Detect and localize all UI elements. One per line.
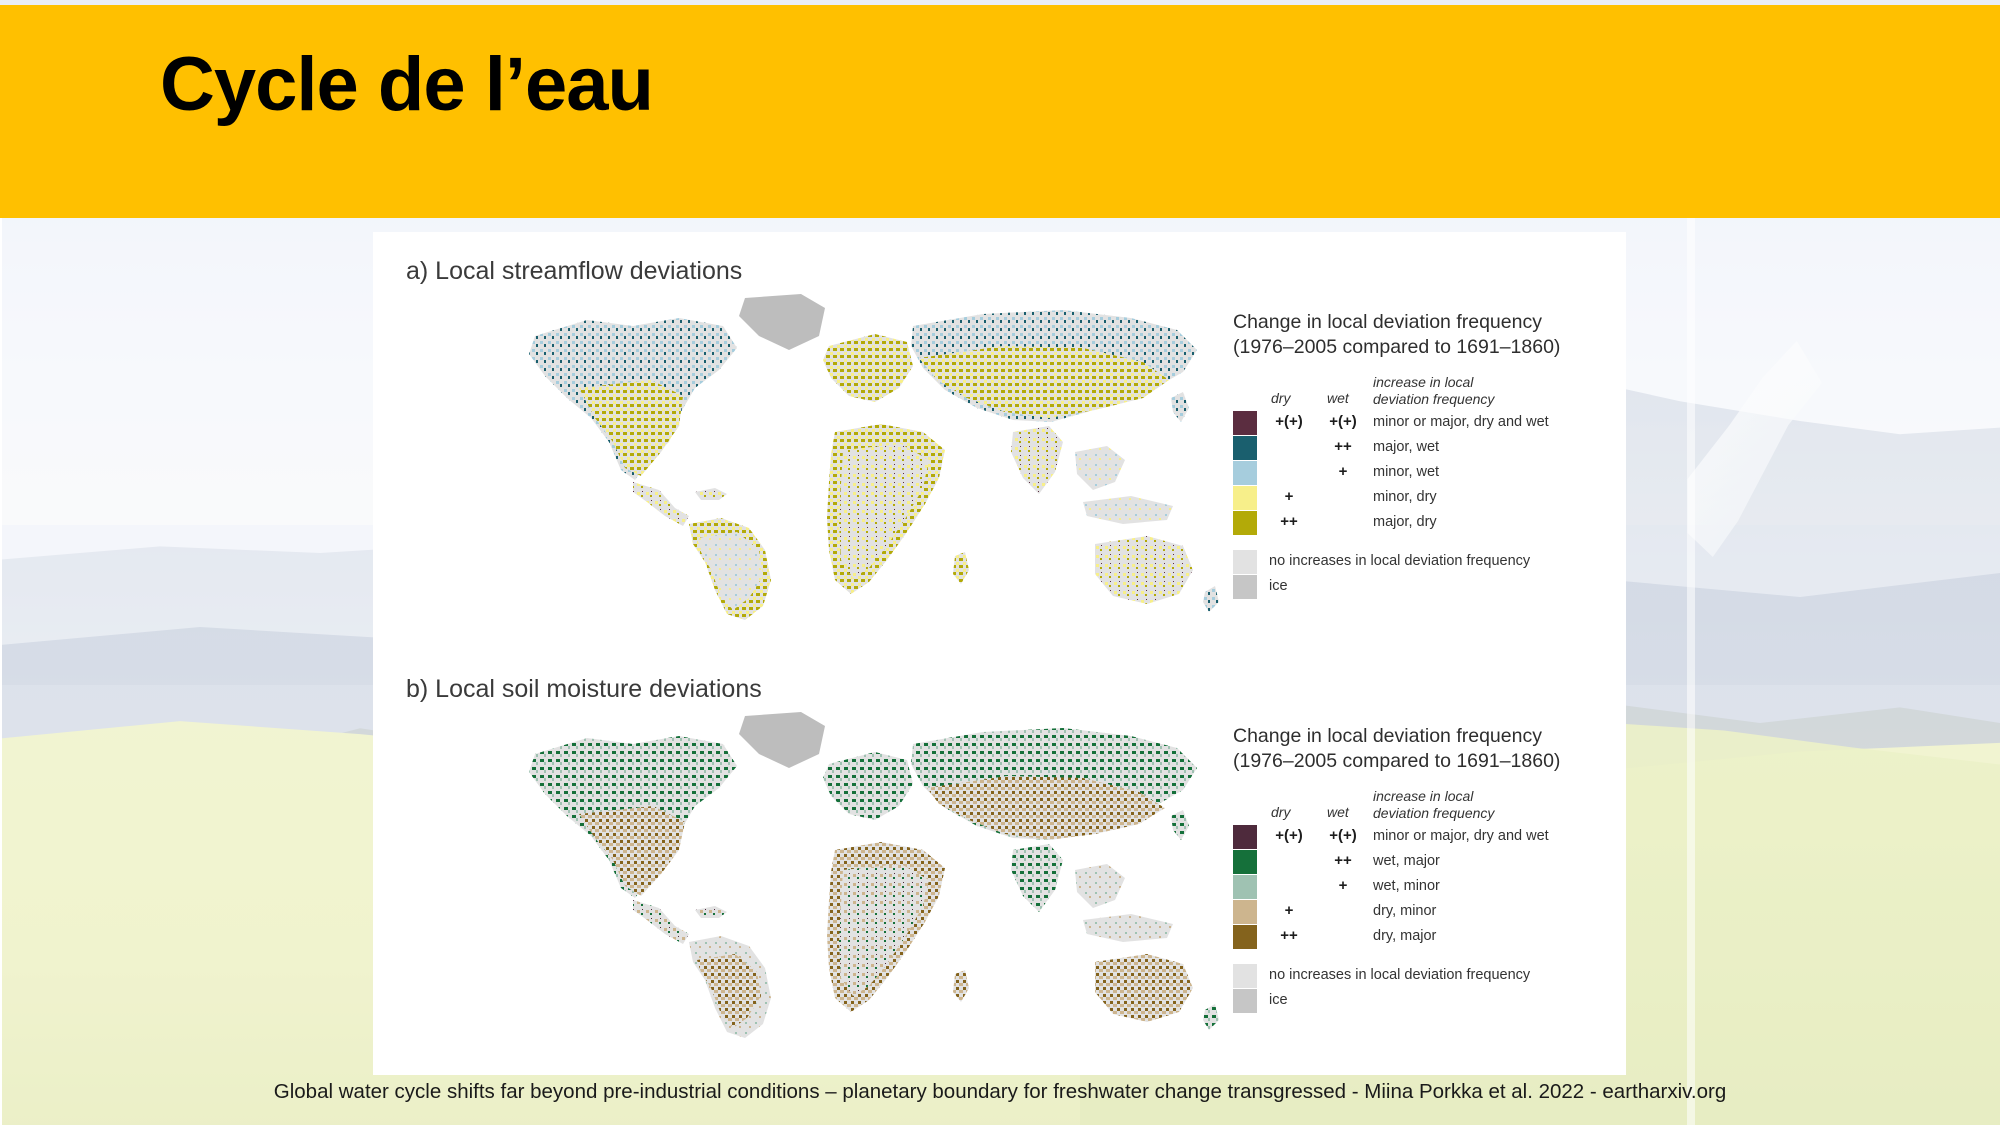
legend-a-row: ++ major, dry xyxy=(1233,510,1613,535)
legend-swatch xyxy=(1233,850,1257,874)
legend-swatch xyxy=(1233,575,1257,599)
page-title: Cycle de l’eau xyxy=(160,43,653,127)
legend-b-col-increase: increase in local deviation frequency xyxy=(1373,788,1494,823)
legend-a-title-line1: Change in local deviation frequency xyxy=(1233,310,1613,335)
legend-swatch xyxy=(1233,486,1257,510)
legend-b-title-line1: Change in local deviation frequency xyxy=(1233,724,1613,749)
legend-a-col-dry: dry xyxy=(1271,390,1290,406)
legend-dry-symbol: ++ xyxy=(1263,513,1315,530)
legend-label: major, wet xyxy=(1373,439,1439,455)
legend-label: wet, minor xyxy=(1373,878,1440,894)
legend-a-col-increase: increase in local deviation frequency xyxy=(1373,374,1494,409)
source-caption: Global water cycle shifts far beyond pre… xyxy=(0,1080,2000,1104)
legend-wet-symbol: +(+) xyxy=(1319,413,1367,430)
panel-a-title: a) Local streamflow deviations xyxy=(406,257,742,286)
legend-b-row-no-increase: no increases in local deviation frequenc… xyxy=(1233,963,1613,988)
world-map-soil-moisture-deviations xyxy=(483,710,1223,1040)
legend-a-row: + minor, wet xyxy=(1233,460,1613,485)
legend-dry-symbol: ++ xyxy=(1263,927,1315,944)
slide-canvas: Cycle de l’eau a) Local streamflow devia… xyxy=(0,0,2000,1125)
legend-streamflow: Change in local deviation frequency (197… xyxy=(1233,310,1613,599)
legend-dry-symbol: +(+) xyxy=(1263,413,1315,430)
legend-spacer xyxy=(1233,949,1613,963)
legend-label: dry, major xyxy=(1373,928,1436,944)
legend-label: major, dry xyxy=(1373,514,1437,530)
legend-swatch xyxy=(1233,550,1257,574)
legend-label: minor, wet xyxy=(1373,464,1439,480)
legend-label: ice xyxy=(1269,992,1288,1008)
legend-spacer xyxy=(1233,535,1613,549)
legend-label: wet, major xyxy=(1373,853,1440,869)
map-b-svg xyxy=(483,710,1223,1040)
legend-wet-symbol: ++ xyxy=(1319,438,1367,455)
title-band: Cycle de l’eau xyxy=(0,5,2000,218)
legend-b-row: ++ wet, major xyxy=(1233,849,1613,874)
legend-b-row: + wet, minor xyxy=(1233,874,1613,899)
legend-a-row-ice: ice xyxy=(1233,574,1613,599)
legend-swatch xyxy=(1233,875,1257,899)
legend-swatch xyxy=(1233,900,1257,924)
legend-dry-symbol: + xyxy=(1263,488,1315,505)
legend-swatch xyxy=(1233,511,1257,535)
world-map-streamflow-deviations xyxy=(483,292,1223,622)
figure-panel: a) Local streamflow deviations xyxy=(373,232,1626,1075)
legend-label: minor or major, dry and wet xyxy=(1373,414,1549,430)
legend-b-row-ice: ice xyxy=(1233,988,1613,1013)
legend-a-column-headers: dry wet increase in local deviation freq… xyxy=(1233,372,1613,410)
legend-label: no increases in local deviation frequenc… xyxy=(1269,553,1530,569)
legend-b-column-headers: dry wet increase in local deviation freq… xyxy=(1233,786,1613,824)
legend-swatch xyxy=(1233,461,1257,485)
legend-swatch xyxy=(1233,925,1257,949)
legend-label: minor, dry xyxy=(1373,489,1437,505)
legend-swatch xyxy=(1233,989,1257,1013)
legend-swatch xyxy=(1233,825,1257,849)
panel-b-title: b) Local soil moisture deviations xyxy=(406,675,762,704)
legend-label: ice xyxy=(1269,578,1288,594)
legend-swatch xyxy=(1233,411,1257,435)
legend-wet-symbol: +(+) xyxy=(1319,827,1367,844)
legend-dry-symbol: + xyxy=(1263,902,1315,919)
legend-swatch xyxy=(1233,436,1257,460)
legend-a-row: ++ major, wet xyxy=(1233,435,1613,460)
legend-soil-moisture: Change in local deviation frequency (197… xyxy=(1233,724,1613,1013)
legend-b-title-line2: (1976–2005 compared to 1691–1860) xyxy=(1233,749,1613,774)
legend-a-title-line2: (1976–2005 compared to 1691–1860) xyxy=(1233,335,1613,360)
legend-b-col-wet: wet xyxy=(1327,804,1349,820)
legend-dry-symbol: +(+) xyxy=(1263,827,1315,844)
legend-wet-symbol: + xyxy=(1319,463,1367,480)
legend-b-row: ++ dry, major xyxy=(1233,924,1613,949)
legend-a-row: + minor, dry xyxy=(1233,485,1613,510)
legend-a-col-wet: wet xyxy=(1327,390,1349,406)
legend-label: minor or major, dry and wet xyxy=(1373,828,1549,844)
legend-b-row: + dry, minor xyxy=(1233,899,1613,924)
legend-b-col-dry: dry xyxy=(1271,804,1290,820)
legend-a-row-no-increase: no increases in local deviation frequenc… xyxy=(1233,549,1613,574)
legend-a-row: +(+) +(+) minor or major, dry and wet xyxy=(1233,410,1613,435)
legend-swatch xyxy=(1233,964,1257,988)
map-a-svg xyxy=(483,292,1223,622)
legend-label: no increases in local deviation frequenc… xyxy=(1269,967,1530,983)
legend-label: dry, minor xyxy=(1373,903,1436,919)
legend-wet-symbol: + xyxy=(1319,877,1367,894)
legend-b-row: +(+) +(+) minor or major, dry and wet xyxy=(1233,824,1613,849)
legend-wet-symbol: ++ xyxy=(1319,852,1367,869)
